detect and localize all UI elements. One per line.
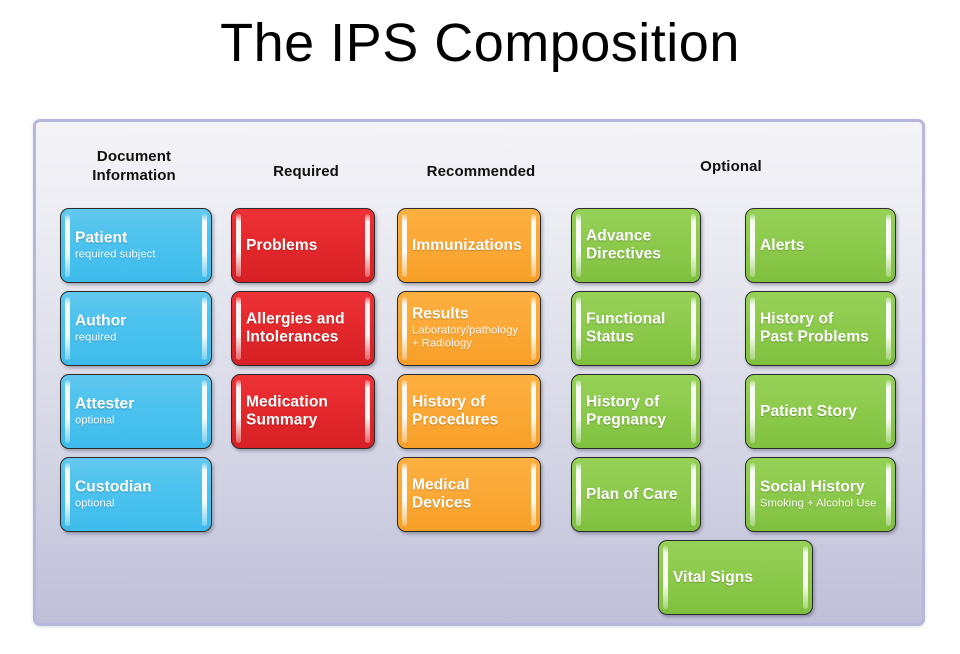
card-author[interactable]: Author required (60, 291, 212, 366)
card-title: Immunizations (412, 236, 524, 254)
card-title: Vital Signs (673, 568, 796, 586)
gloss-highlight-left (750, 463, 755, 526)
gloss-highlight-right (803, 546, 808, 609)
card-immunizations[interactable]: Immunizations (397, 208, 541, 283)
gloss-highlight-left (750, 297, 755, 360)
gloss-highlight-right (531, 380, 536, 443)
gloss-highlight-left (576, 297, 581, 360)
card-title: Problems (246, 236, 358, 254)
column-header-line-2: Information (54, 166, 214, 185)
card-subtitle: optional (75, 497, 195, 511)
gloss-highlight-left (576, 380, 581, 443)
gloss-highlight-left (402, 463, 407, 526)
column-header-line-1: Document (54, 147, 214, 166)
gloss-highlight-right (202, 297, 207, 360)
gloss-highlight-left (576, 214, 581, 277)
gloss-highlight-right (365, 297, 370, 360)
gloss-highlight-left (663, 546, 668, 609)
card-title: Alerts (760, 236, 879, 254)
gloss-highlight-right (691, 297, 696, 360)
card-subtitle: required subject (75, 248, 195, 262)
card-history-of-past-problems[interactable]: History ofPast Problems (745, 291, 896, 366)
card-title: Custodian (75, 478, 195, 496)
card-social-history[interactable]: Social History Smoking + Alcohol Use (745, 457, 896, 532)
card-subtitle: Laboratory/pathology+ Radiology (412, 324, 524, 351)
card-subtitle: required (75, 331, 195, 345)
card-results[interactable]: Results Laboratory/pathology+ Radiology (397, 291, 541, 366)
gloss-highlight-left (402, 380, 407, 443)
gloss-highlight-left (65, 463, 70, 526)
gloss-highlight-left (750, 214, 755, 277)
card-subtitle: Smoking + Alcohol Use (760, 497, 879, 511)
gloss-highlight-left (402, 214, 407, 277)
page-title: The IPS Composition (0, 12, 960, 74)
card-patient[interactable]: Patient required subject (60, 208, 212, 283)
gloss-highlight-left (402, 297, 407, 360)
card-attester[interactable]: Attester optional (60, 374, 212, 449)
card-title: Plan of Care (586, 485, 684, 503)
card-advance-directives[interactable]: AdvanceDirectives (571, 208, 701, 283)
card-history-of-procedures[interactable]: History ofProcedures (397, 374, 541, 449)
card-title: Results (412, 305, 524, 323)
card-medical-devices[interactable]: MedicalDevices (397, 457, 541, 532)
card-functional-status[interactable]: FunctionalStatus (571, 291, 701, 366)
gloss-highlight-right (691, 380, 696, 443)
card-title: History ofPregnancy (586, 393, 684, 430)
card-title: MedicationSummary (246, 393, 358, 430)
card-history-of-pregnancy[interactable]: History ofPregnancy (571, 374, 701, 449)
gloss-highlight-left (236, 297, 241, 360)
gloss-highlight-left (236, 380, 241, 443)
column-header-document-information: Document Information (54, 147, 214, 185)
card-title: Patient (75, 229, 195, 247)
gloss-highlight-left (65, 380, 70, 443)
gloss-highlight-right (531, 214, 536, 277)
card-custodian[interactable]: Custodian optional (60, 457, 212, 532)
card-title: Attester (75, 395, 195, 413)
card-allergies-and-intolerances[interactable]: Allergies andIntolerances (231, 291, 375, 366)
column-header-required: Required (226, 162, 386, 181)
card-title: Social History (760, 478, 879, 496)
gloss-highlight-right (691, 463, 696, 526)
card-title: MedicalDevices (412, 476, 524, 513)
gloss-highlight-right (531, 297, 536, 360)
gloss-highlight-right (886, 214, 891, 277)
gloss-highlight-right (202, 214, 207, 277)
gloss-highlight-left (236, 214, 241, 277)
card-title: Patient Story (760, 402, 879, 420)
gloss-highlight-left (65, 297, 70, 360)
gloss-highlight-right (886, 463, 891, 526)
gloss-highlight-right (531, 463, 536, 526)
card-title: FunctionalStatus (586, 310, 684, 347)
card-medication-summary[interactable]: MedicationSummary (231, 374, 375, 449)
gloss-highlight-left (65, 214, 70, 277)
card-subtitle: optional (75, 414, 195, 428)
gloss-highlight-right (202, 463, 207, 526)
column-header-optional: Optional (641, 157, 821, 176)
gloss-highlight-right (886, 297, 891, 360)
gloss-highlight-left (750, 380, 755, 443)
gloss-highlight-right (691, 214, 696, 277)
slide-canvas: The IPS Composition Document Information… (0, 0, 960, 654)
gloss-highlight-left (576, 463, 581, 526)
gloss-highlight-right (365, 214, 370, 277)
gloss-highlight-right (365, 380, 370, 443)
card-plan-of-care[interactable]: Plan of Care (571, 457, 701, 532)
card-title: Allergies andIntolerances (246, 310, 358, 347)
gloss-highlight-right (202, 380, 207, 443)
card-title: History ofPast Problems (760, 310, 879, 347)
card-title: Author (75, 312, 195, 330)
card-problems[interactable]: Problems (231, 208, 375, 283)
column-header-recommended: Recommended (391, 162, 571, 181)
card-patient-story[interactable]: Patient Story (745, 374, 896, 449)
card-alerts[interactable]: Alerts (745, 208, 896, 283)
card-title: History ofProcedures (412, 393, 524, 430)
card-vital-signs[interactable]: Vital Signs (658, 540, 813, 615)
gloss-highlight-right (886, 380, 891, 443)
card-title: AdvanceDirectives (586, 227, 684, 264)
